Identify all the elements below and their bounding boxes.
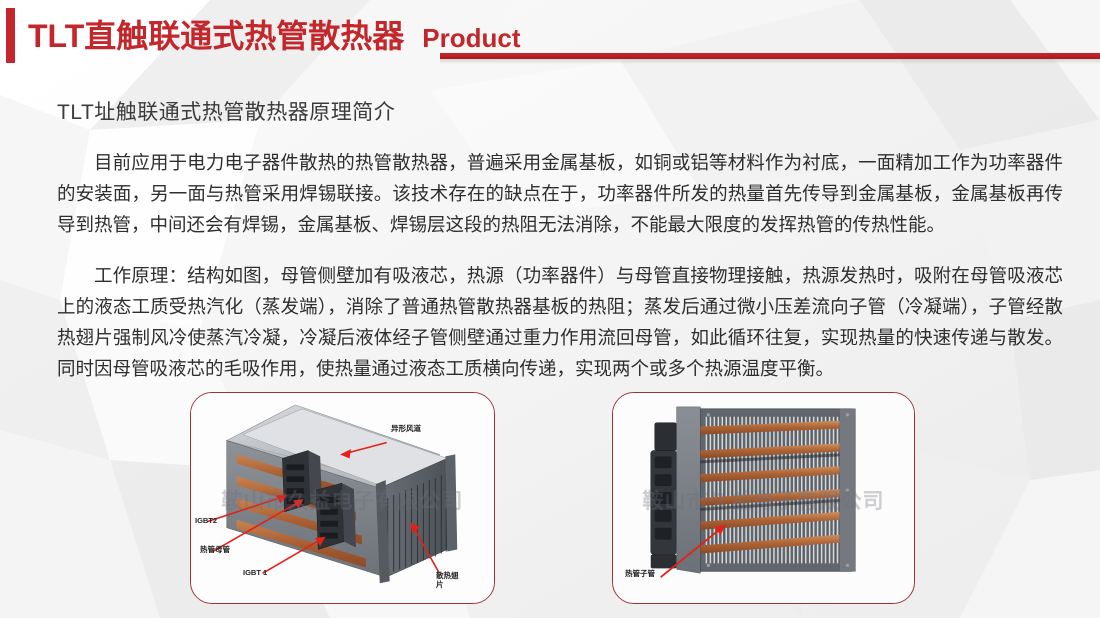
paragraph-background: 目前应用于电力电子器件散热的热管散热器，普遍采用金属基板，如铜或铝等材料作为衬底… (57, 147, 1063, 240)
section-subtitle: TLT址触联通式热管散热器原理简介 (57, 96, 395, 126)
paragraph-working-principle: 工作原理：结构如图，母管侧壁加有吸液芯，热源（功率器件）与母管直接物理接触，热源… (57, 260, 1063, 384)
slide-root: TLT直触联通式热管散热器 Product TLT址触联通式热管散热器原理简介 … (0, 0, 1100, 618)
label-fins: 散热翅 片 (436, 571, 459, 589)
label-igbt2: IGBT2 (195, 516, 217, 525)
label-airduct: 异形风道 (391, 424, 421, 433)
label-main-pipe: 热管母管 (200, 545, 230, 554)
figure-assembly-diagram: 鞍山市久益电子有限公司 异形风道 IGBT2 热管母管 IGBT 1 散热翅 片 (190, 392, 495, 604)
slide-header: TLT直触联通式热管散热器 Product (0, 0, 1100, 72)
label-igbt1: IGBT 1 (243, 568, 267, 577)
header-accent-bar (6, 8, 15, 63)
fin-stack-drawing (613, 393, 914, 603)
page-title: TLT直触联通式热管散热器 (28, 11, 404, 57)
header-underline-shadow (440, 59, 1100, 64)
figure-fin-stack: 鞍山市久益电子有限公司 热管子管 (612, 392, 915, 604)
label-sub-pipe: 热管子管 (625, 569, 655, 578)
page-title-en: Product (422, 23, 520, 54)
header-title-group: TLT直触联通式热管散热器 Product (28, 11, 521, 57)
